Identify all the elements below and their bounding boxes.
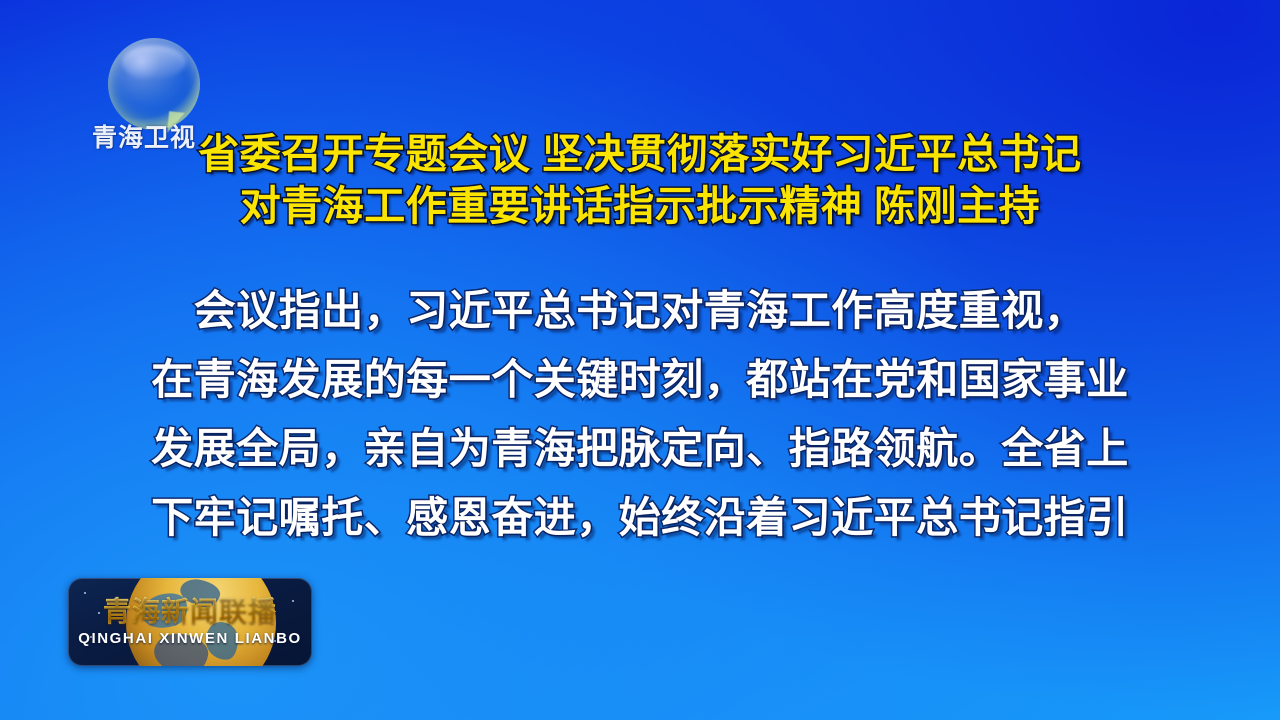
- channel-name: 青海卫视: [92, 118, 196, 154]
- program-title-en: QINGHAI XINWEN LIANBO: [68, 630, 312, 647]
- sphere-speech-bubble-logo-icon: [108, 38, 200, 130]
- broadcast-screen: 青海卫视 省委召开专题会议 坚决贯彻落实好习近平总书记 对青海工作重要讲话指示批…: [0, 0, 1280, 720]
- body-copy: 会议指出，习近平总书记对青海工作高度重视， 在青海发展的每一个关键时刻，都站在党…: [0, 276, 1280, 552]
- sphere-highlight: [122, 45, 186, 79]
- program-title-cn: 青海新闻联播: [68, 590, 312, 630]
- headline-line-2: 对青海工作重要讲话指示批示精神 陈刚主持: [0, 180, 1280, 232]
- body-line-1: 会议指出，习近平总书记对青海工作高度重视，: [0, 276, 1280, 345]
- program-badge: 青海新闻联播 QINGHAI XINWEN LIANBO: [68, 578, 312, 666]
- body-line-2: 在青海发展的每一个关键时刻，都站在党和国家事业: [0, 345, 1280, 414]
- channel-bug: 青海卫视: [108, 38, 204, 138]
- body-line-4: 下牢记嘱托、感恩奋进，始终沿着习近平总书记指引: [0, 483, 1280, 552]
- body-line-3: 发展全局，亲自为青海把脉定向、指路领航。全省上: [0, 414, 1280, 483]
